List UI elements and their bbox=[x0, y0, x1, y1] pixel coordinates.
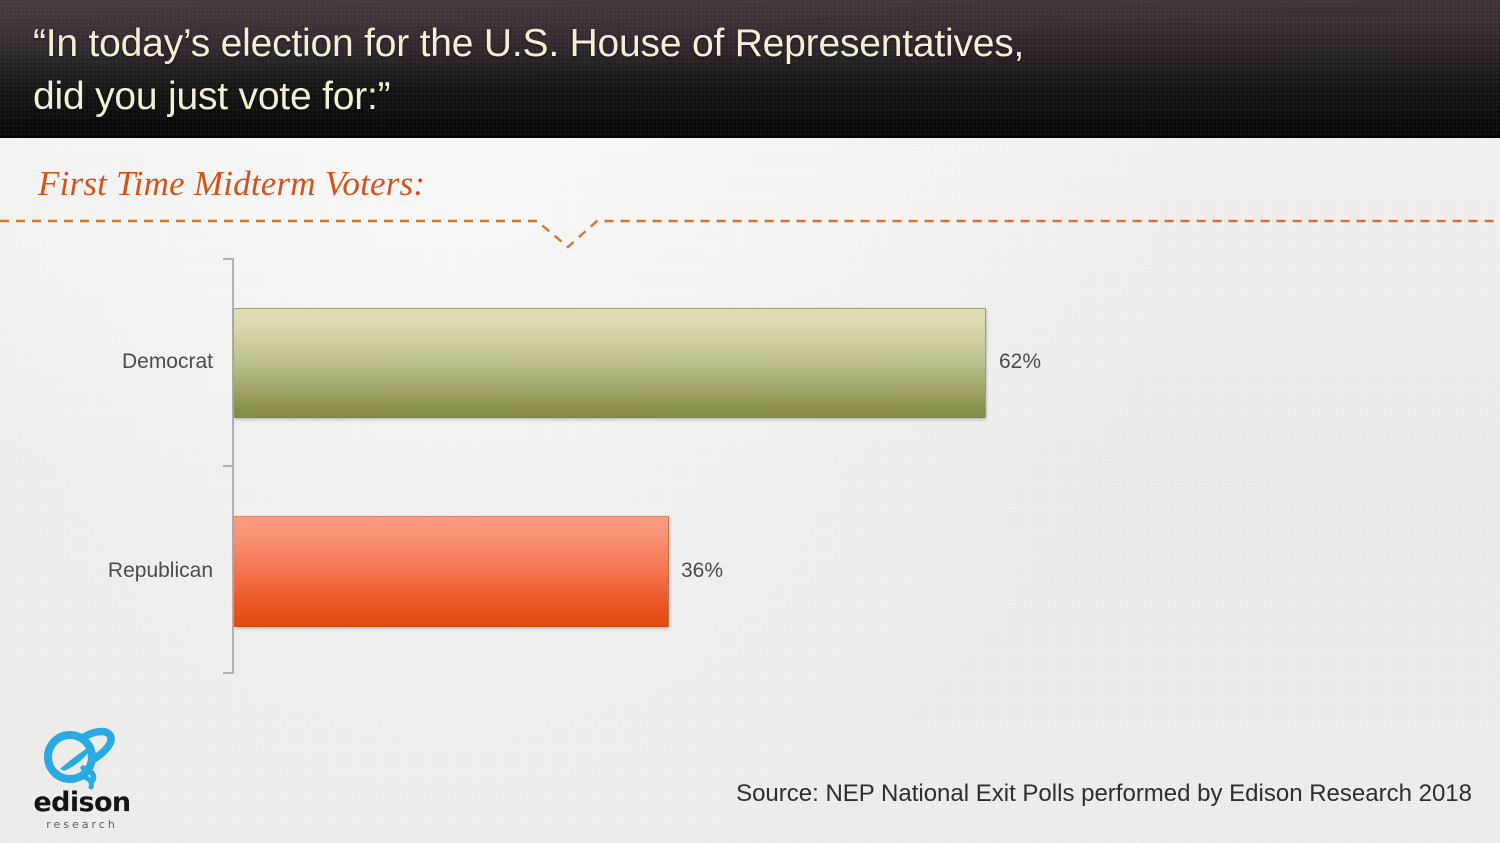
category-label-republican: Republican bbox=[108, 559, 213, 583]
logo-subwordmark: research bbox=[22, 818, 142, 831]
value-label-republican: 36% bbox=[681, 559, 723, 583]
bar-republican bbox=[234, 516, 669, 627]
bar-chart: Democrat 62% Republican 36% bbox=[0, 0, 1500, 843]
edison-research-logo: edison research bbox=[22, 726, 142, 834]
logo-wordmark: edison bbox=[22, 788, 142, 818]
edison-planet-mark-icon bbox=[38, 726, 118, 792]
slide-root: “In today’s election for the U.S. House … bbox=[0, 0, 1500, 843]
axis-tick-top bbox=[223, 258, 232, 260]
axis-tick-middle bbox=[223, 465, 232, 467]
source-attribution: Source: NEP National Exit Polls performe… bbox=[736, 780, 1472, 808]
bar-democrat bbox=[234, 308, 986, 418]
axis-tick-bottom bbox=[223, 672, 232, 674]
value-label-democrat: 62% bbox=[999, 350, 1041, 374]
category-label-democrat: Democrat bbox=[122, 350, 213, 374]
